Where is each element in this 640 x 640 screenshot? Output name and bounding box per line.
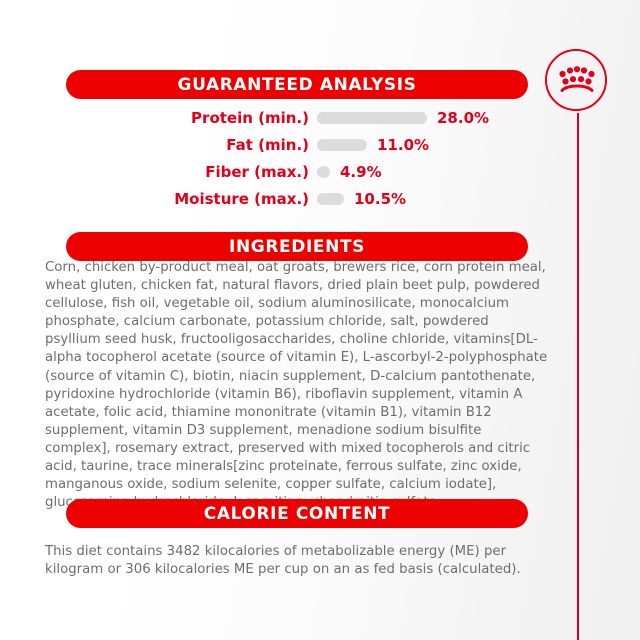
analysis-row-label: Protein (min.)	[40, 109, 317, 127]
analysis-row: Moisture (max.) 10.5%	[40, 185, 520, 212]
logo-vertical-line	[577, 113, 579, 640]
analysis-row-bar	[317, 166, 330, 178]
guaranteed-analysis-list: Protein (min.) 28.0% Fat (min.) 11.0% Fi…	[40, 104, 520, 212]
ingredients-heading: INGREDIENTS	[66, 232, 528, 261]
analysis-row-label: Fat (min.)	[40, 136, 317, 154]
pet-food-label-page: GUARANTEED ANALYSIS Protein (min.) 28.0%…	[0, 0, 640, 640]
guaranteed-analysis-heading: GUARANTEED ANALYSIS	[66, 70, 528, 99]
analysis-row-bar	[317, 193, 344, 205]
analysis-row-value: 28.0%	[427, 109, 489, 127]
analysis-row: Protein (min.) 28.0%	[40, 104, 520, 131]
brand-logo	[545, 49, 611, 115]
analysis-row-value: 11.0%	[367, 136, 429, 154]
analysis-row-value: 10.5%	[344, 190, 406, 208]
analysis-row-label: Fiber (max.)	[40, 163, 317, 181]
analysis-row-value: 4.9%	[330, 163, 382, 181]
analysis-row-bar	[317, 112, 427, 124]
calorie-content-body-text: This diet contains 3482 kilocalories of …	[45, 543, 535, 579]
analysis-row: Fiber (max.) 4.9%	[40, 158, 520, 185]
analysis-row-label: Moisture (max.)	[40, 190, 317, 208]
ingredients-body-text: Corn, chicken by-product meal, oat groat…	[45, 259, 548, 512]
calorie-content-heading: CALORIE CONTENT	[66, 499, 528, 528]
crown-icon	[558, 65, 596, 95]
analysis-row-bar	[317, 139, 367, 151]
analysis-row: Fat (min.) 11.0%	[40, 131, 520, 158]
